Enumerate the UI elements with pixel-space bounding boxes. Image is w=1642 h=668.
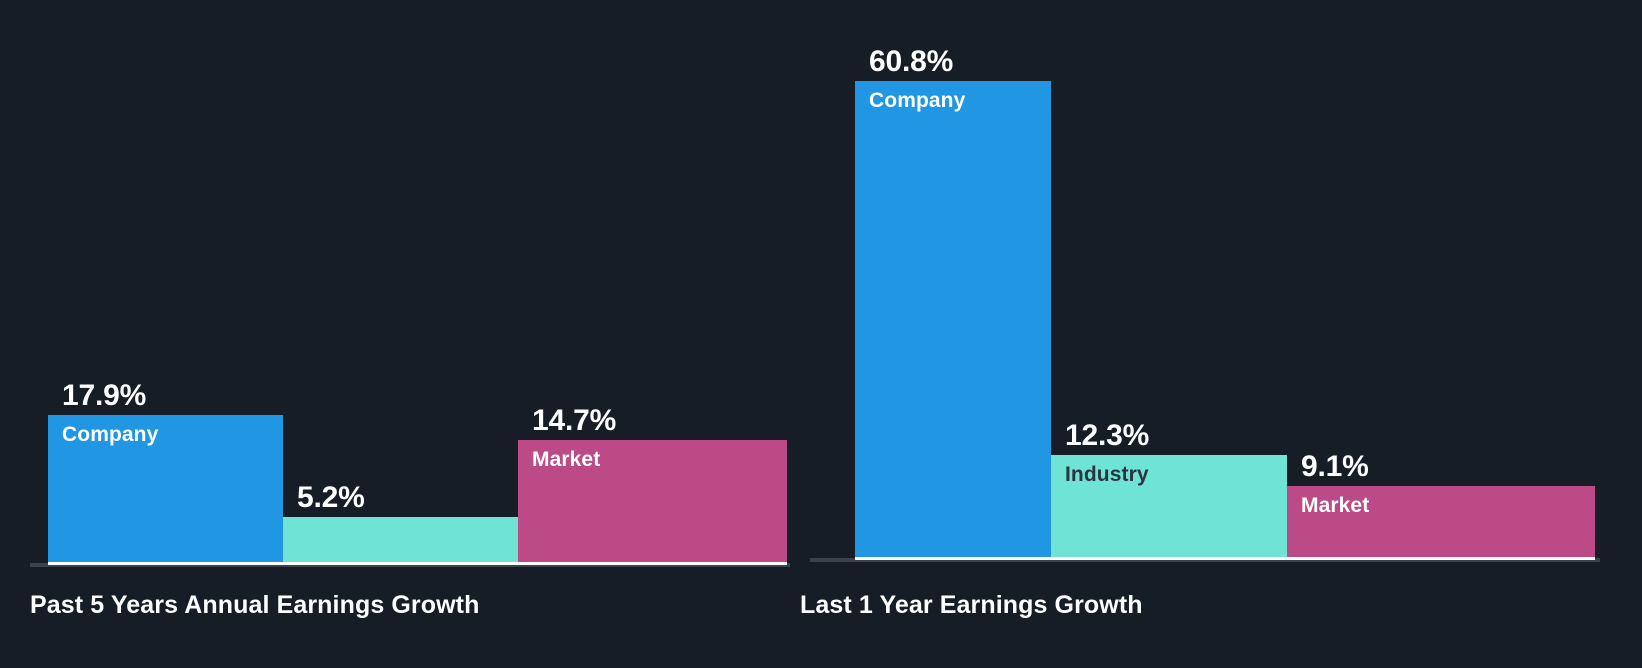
bar-value-label: 17.9%: [62, 380, 146, 412]
bar-group-market[interactable]: 14.7% Market: [518, 440, 787, 563]
bar-rect-market[interactable]: Market: [1287, 486, 1595, 558]
bar-group-company[interactable]: 17.9% Company: [48, 415, 283, 563]
bar-series-label: Company: [62, 423, 158, 446]
bar-value-label: 14.7%: [532, 405, 616, 437]
bar-group-company[interactable]: 60.8% Company: [855, 81, 1051, 558]
bar-value-label: 9.1%: [1301, 451, 1369, 483]
bar-series-label: Company: [869, 89, 965, 112]
plot-area-right: 60.8% Company 12.3% Industry 9.1% Market: [800, 0, 1642, 668]
bar-rect-company[interactable]: Company: [855, 81, 1051, 558]
bar-series-label: Market: [1301, 494, 1369, 517]
axis-baseline-left: [48, 562, 787, 565]
chart-panel-last-1-year: 60.8% Company 12.3% Industry 9.1% Market: [800, 0, 1642, 668]
bar-rect-industry[interactable]: [283, 517, 518, 563]
bar-value-label: 60.8%: [869, 46, 953, 78]
bar-group-industry[interactable]: 12.3% Industry: [1051, 455, 1287, 558]
chart-panel-past-5-years: 17.9% Company Industry 5.2% 14.7% Market: [0, 0, 800, 668]
bar-series-label: Market: [532, 448, 600, 471]
bar-group-industry[interactable]: Industry 5.2%: [283, 517, 518, 563]
axis-baseline-right: [855, 557, 1595, 560]
bar-series-label: Industry: [1065, 463, 1149, 486]
bar-group-market[interactable]: 9.1% Market: [1287, 486, 1595, 558]
bar-value-label: 5.2%: [297, 482, 365, 514]
bar-rect-company[interactable]: Company: [48, 415, 283, 563]
earnings-growth-comparison: 17.9% Company Industry 5.2% 14.7% Market: [0, 0, 1642, 668]
chart-title-past-5-years: Past 5 Years Annual Earnings Growth: [30, 591, 479, 620]
bar-value-label: 12.3%: [1065, 420, 1149, 452]
bar-rect-industry[interactable]: Industry: [1051, 455, 1287, 558]
chart-title-last-1-year: Last 1 Year Earnings Growth: [800, 591, 1143, 620]
plot-area-left: 17.9% Company Industry 5.2% 14.7% Market: [0, 0, 800, 668]
bar-rect-market[interactable]: Market: [518, 440, 787, 563]
